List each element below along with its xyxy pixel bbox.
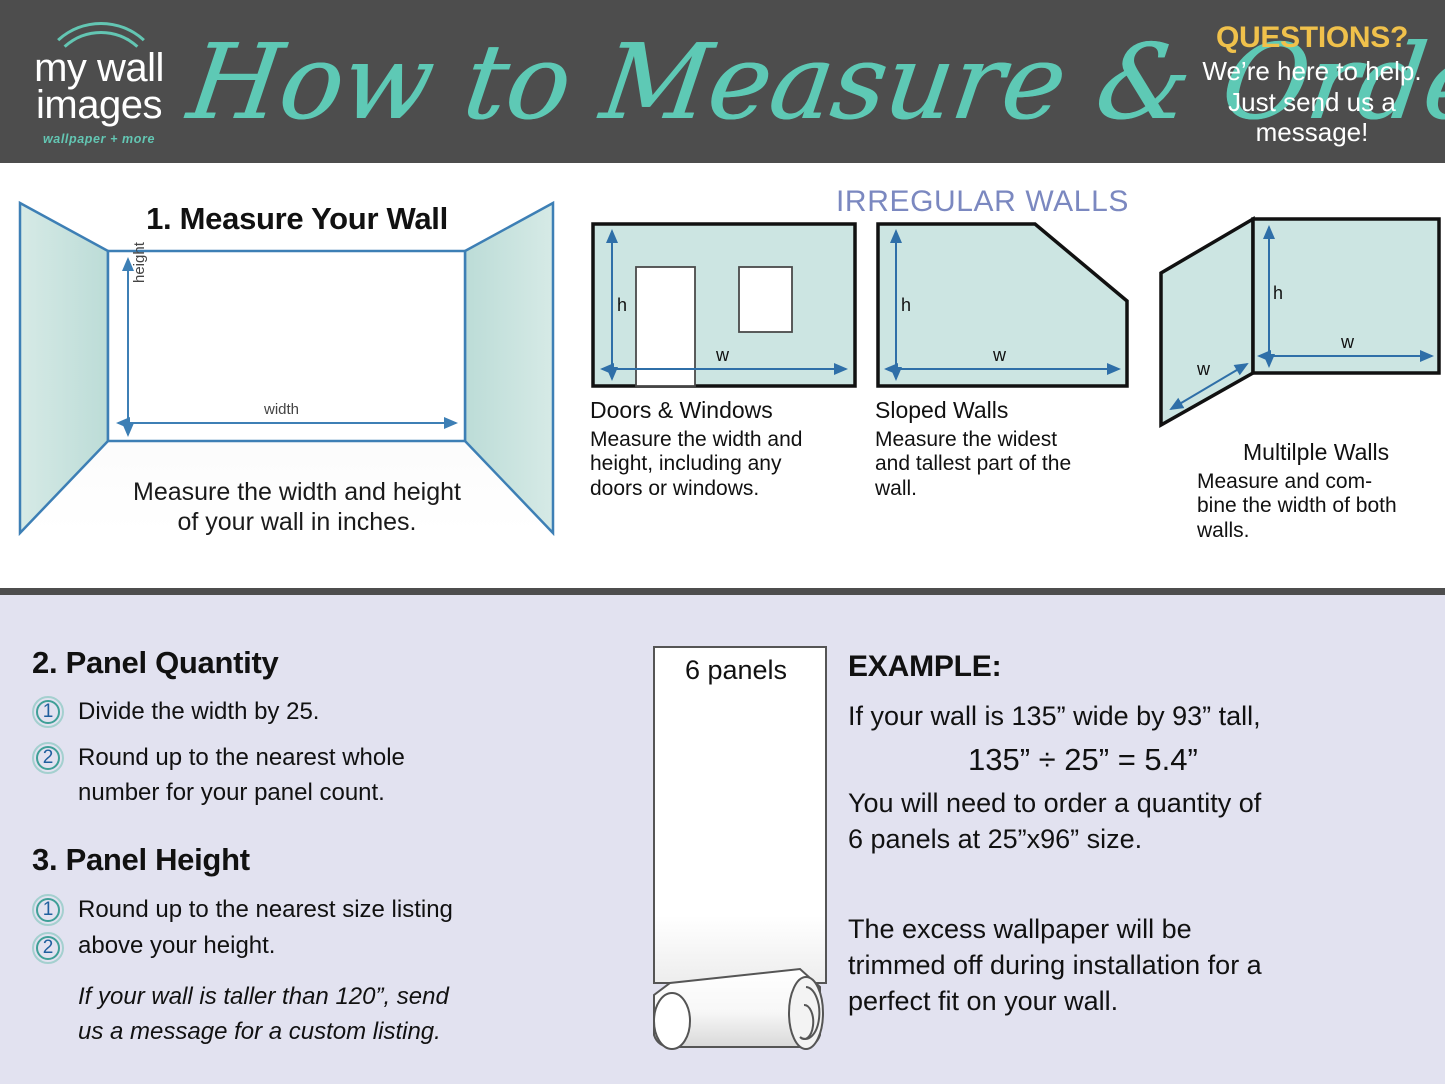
card1-desc-line3: doors or windows.: [590, 477, 759, 500]
card1-desc-line2: height, including any: [590, 452, 781, 475]
multiple-walls-diagram: h w w: [1155, 203, 1445, 435]
step2-badge-2: 2: [32, 742, 64, 774]
step3-badge-1-number: 1: [32, 894, 64, 926]
logo-wordmark: my wall images: [18, 50, 180, 124]
step3-item-1-line1: Round up to the nearest size listing: [78, 896, 453, 925]
width-dimension-label: width: [264, 401, 299, 418]
card1-h-label: h: [617, 295, 627, 315]
card3-name: Multilple Walls: [1243, 439, 1440, 466]
questions-heading: QUESTIONS?: [1197, 22, 1427, 54]
step2-item-2-line2: number for your panel count.: [78, 779, 385, 808]
doors-windows-diagram: h w: [590, 221, 858, 393]
step2-item-2-line1: Round up to the nearest whole: [78, 744, 405, 773]
measure-section: 1. Measure Your Wall height width Measur…: [0, 163, 1445, 593]
infographic-page: my wall images wallpaper + more How to M…: [0, 0, 1445, 1084]
page-header: my wall images wallpaper + more How to M…: [0, 0, 1445, 163]
card3-w-label: w: [1340, 332, 1355, 352]
card1-desc-line1: Measure the width and: [590, 428, 802, 451]
logo-line-2: images: [18, 87, 180, 124]
card2-desc-line3: wall.: [875, 477, 917, 500]
logo-tagline: wallpaper + more: [18, 132, 180, 146]
step3-badge-2: 2: [32, 932, 64, 964]
wallpaper-roll: 6 panels: [650, 643, 822, 1043]
example-line-5: trimmed off during installation for a: [848, 949, 1262, 981]
example-line-4: The excess wallpaper will be: [848, 913, 1192, 945]
step3-note-line1: If your wall is taller than 120”, send: [78, 983, 449, 1012]
brand-logo: my wall images wallpaper + more: [18, 14, 180, 150]
card2-w-label: w: [992, 345, 1007, 365]
example-line-3: 6 panels at 25”x96” size.: [848, 823, 1142, 855]
example-line-1: If your wall is 135” wide by 93” tall,: [848, 700, 1261, 732]
help-text: We’re here to help. Just send us a messa…: [1197, 56, 1427, 147]
card1-desc: Measure the width and height, including …: [590, 428, 875, 501]
card2-name: Sloped Walls: [875, 397, 1160, 424]
wallpaper-roll-icon: [650, 643, 850, 1053]
card3-h-label: h: [1273, 283, 1283, 303]
card3-desc-line2: bine the width of both: [1197, 494, 1397, 517]
step1-caption-line1: Measure the width and height: [133, 478, 461, 506]
step2-badge-2-number: 2: [32, 742, 64, 774]
card2-desc-line1: Measure the widest: [875, 428, 1057, 451]
example-line-2: You will need to order a quantity of: [848, 787, 1261, 819]
height-dimension-label: height: [131, 242, 148, 283]
help-block: QUESTIONS? We’re here to help. Just send…: [1197, 22, 1427, 148]
step3-badge-1: 1: [32, 894, 64, 926]
example-title: EXAMPLE:: [848, 650, 1001, 684]
step3-title: 3. Panel Height: [32, 842, 250, 878]
page-title: How to Measure & Order: [180, 10, 1180, 155]
sloped-walls-diagram: h w: [875, 221, 1145, 393]
card3-desc: Measure and com- bine the width of both …: [1197, 470, 1440, 543]
step2-title: 2. Panel Quantity: [32, 645, 278, 681]
card3-desc-line3: walls.: [1197, 519, 1250, 542]
step2-badge-1: 1: [32, 696, 64, 728]
step2-badge-1-number: 1: [32, 696, 64, 728]
step3-item-2-line1: above your height.: [78, 932, 275, 961]
card2-desc-line2: and tallest part of the: [875, 452, 1071, 475]
step3-note-line2: us a message for a custom listing.: [78, 1018, 441, 1047]
irregular-card-sloped-walls: h w Sloped Walls Measure the widest and …: [875, 221, 1160, 501]
irregular-card-doors-windows: h w Doors & Windows Measure the width an…: [590, 221, 875, 501]
irregular-walls-heading: IRREGULAR WALLS: [836, 185, 1156, 219]
card3-desc-line1: Measure and com-: [1197, 470, 1440, 494]
card2-desc: Measure the widest and tallest part of t…: [875, 428, 1160, 501]
card2-h-label: h: [901, 295, 911, 315]
irregular-card-multiple-walls: h w w Multilple Walls Measure and com- b…: [1155, 221, 1440, 543]
wall-perspective-diagram: 1. Measure Your Wall height width Measur…: [12, 183, 582, 553]
card1-w-label: w: [715, 345, 730, 365]
example-equation: 135” ÷ 25” = 5.4”: [968, 742, 1198, 778]
step3-badge-2-number: 2: [32, 932, 64, 964]
section-divider: [0, 588, 1445, 595]
card1-name: Doors & Windows: [590, 397, 875, 424]
step1-caption: Measure the width and height of your wal…: [12, 478, 582, 537]
roll-panel-count-label: 6 panels: [650, 655, 822, 686]
card3-w2-label: w: [1196, 359, 1211, 379]
step2-item-1-line1: Divide the width by 25.: [78, 698, 319, 727]
example-line-6: perfect fit on your wall.: [848, 985, 1118, 1017]
step1-title: 1. Measure Your Wall: [12, 201, 582, 237]
step1-caption-line2: of your wall in inches.: [177, 508, 416, 536]
